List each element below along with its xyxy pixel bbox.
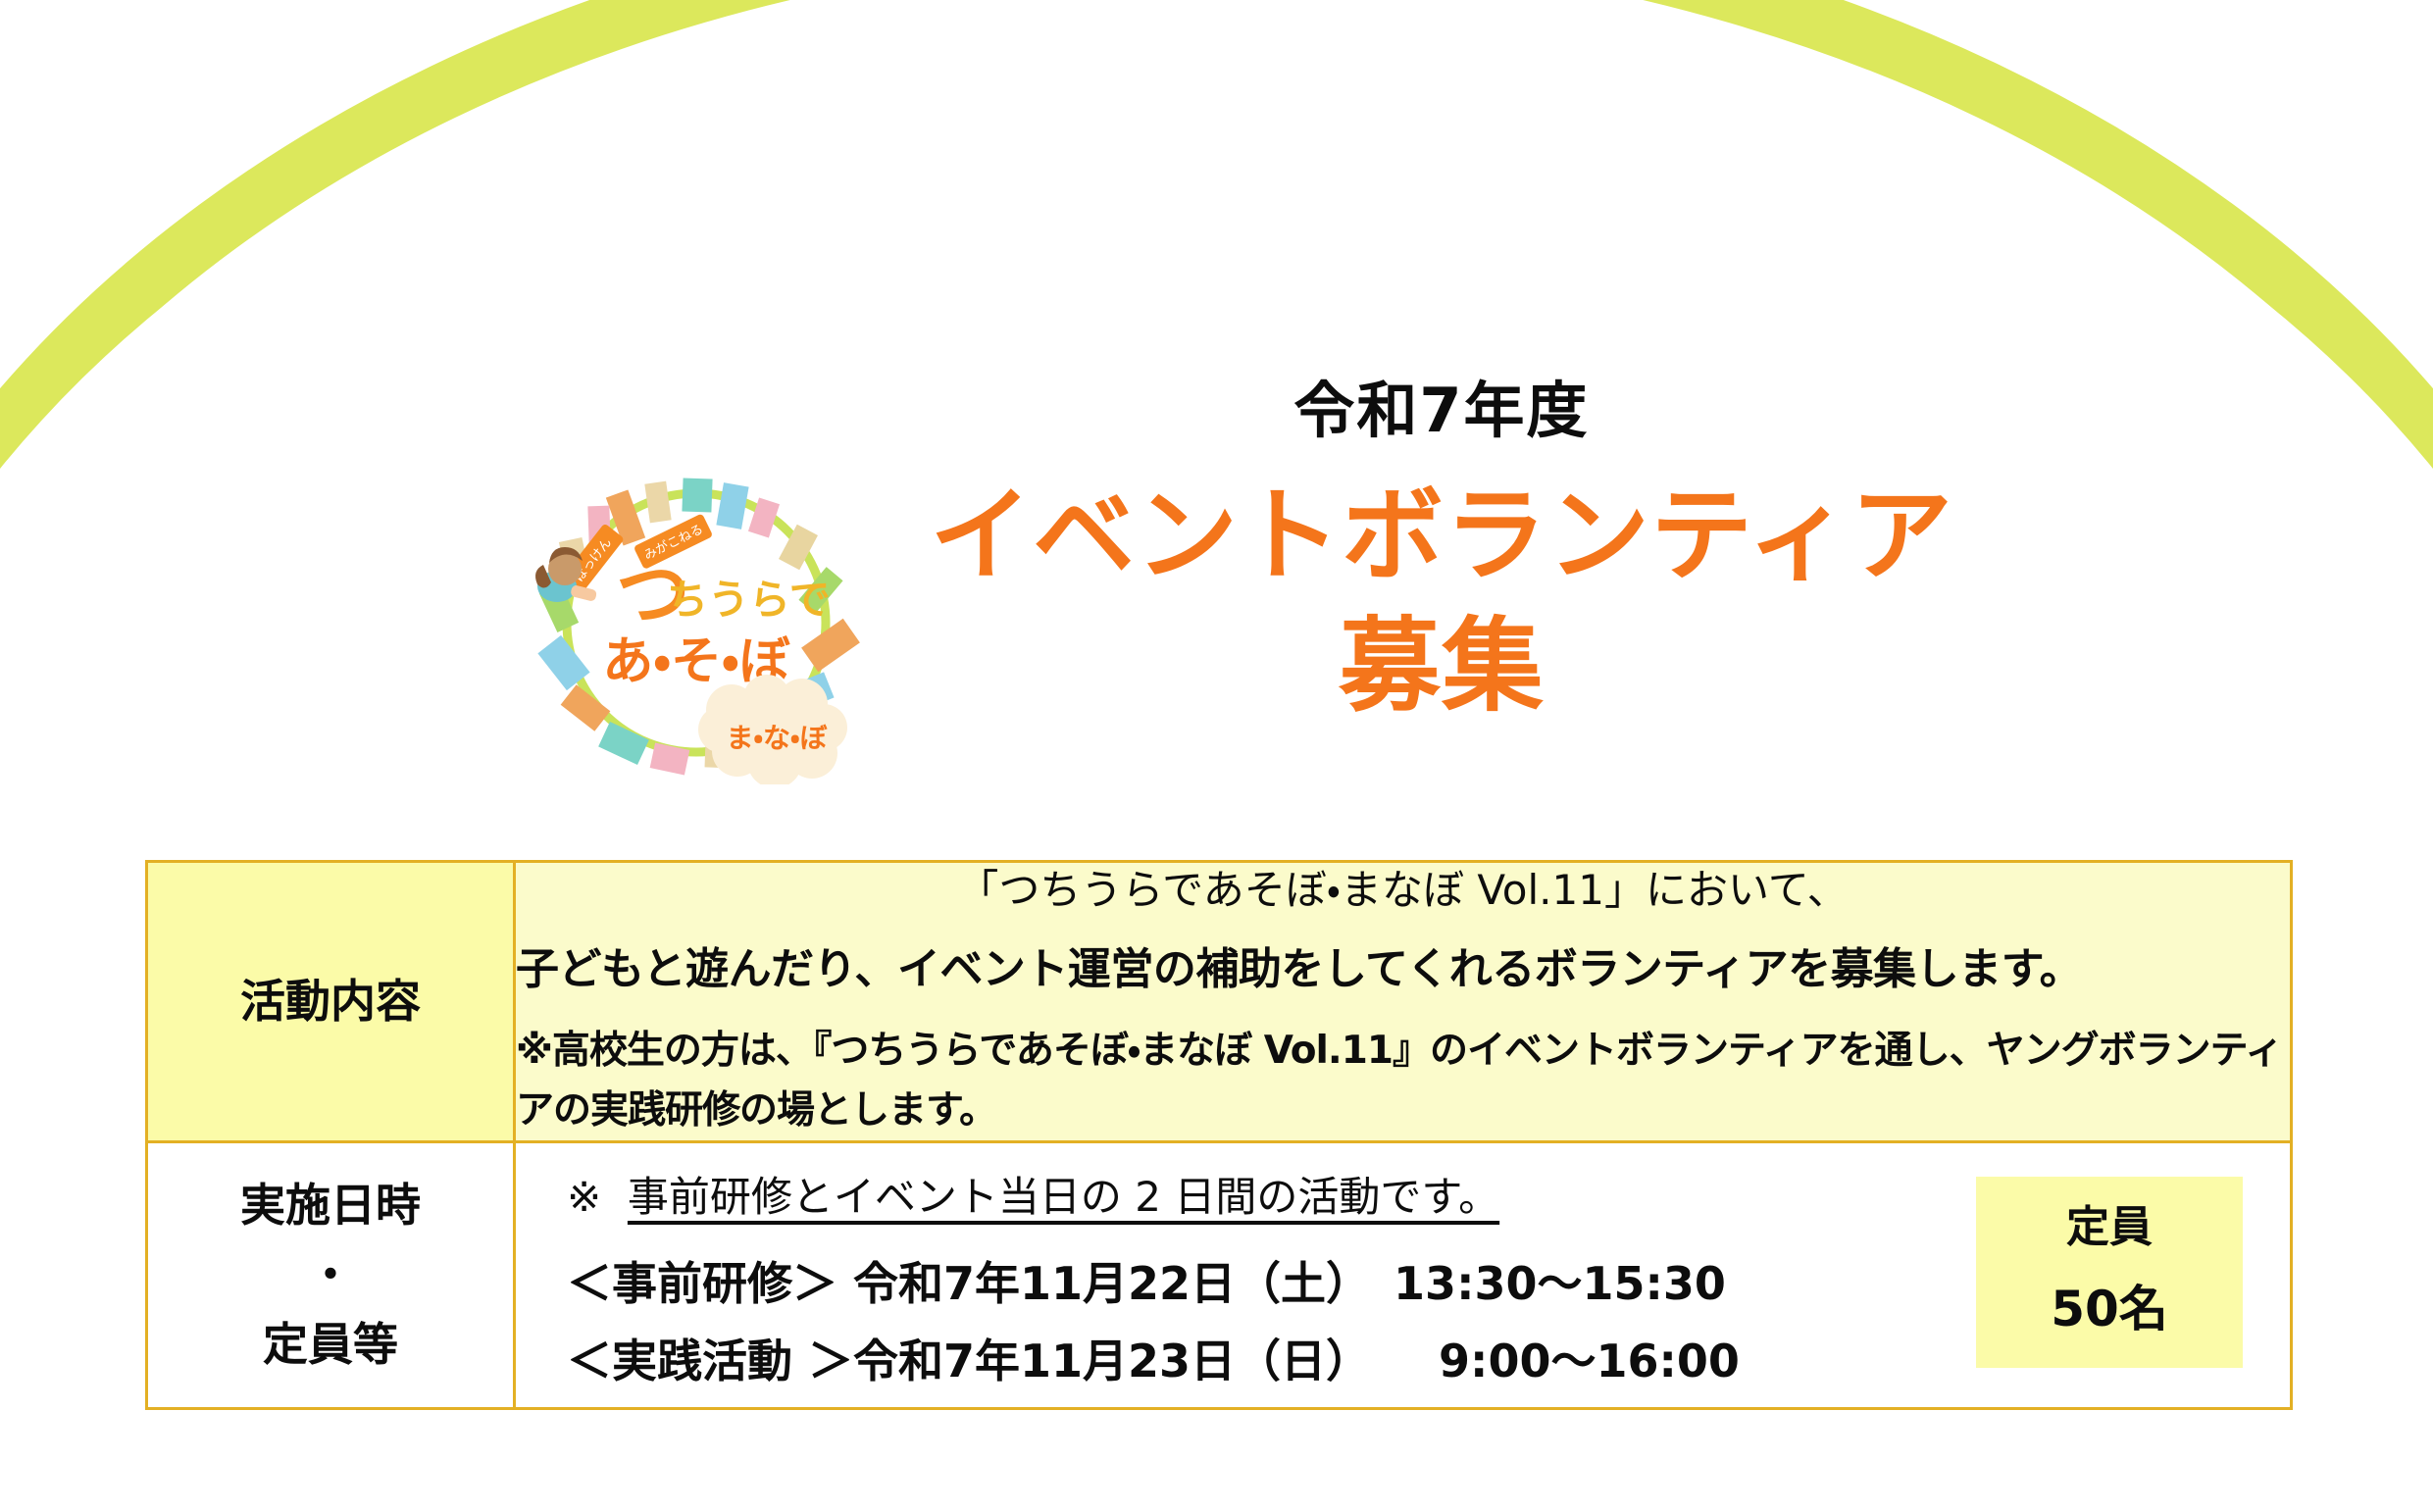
schedule-row-training: ＜事前研修＞ 令和7年11月22日（土） 13:30～15:30	[567, 1252, 1740, 1316]
details-table: 活動内容 「つちうらであそぼ・まなぼ Vol.11」において、 子どもと遊んだり…	[145, 860, 2293, 1410]
capacity-value: 50名	[1976, 1280, 2243, 1338]
poster-title-block: 令和7年度 イベントボランティア 募集	[922, 378, 1961, 724]
row-label-activity: 活動内容	[147, 862, 515, 1142]
table-row: 実施日時 ・ 定員等 ※ 事前研修とイベント当日の 2 日間の活動です。 ＜事前…	[147, 1141, 2292, 1408]
schedule-note: ※ 事前研修とイベント当日の 2 日間の活動です。	[567, 1169, 1740, 1227]
row-label-schedule: 実施日時 ・ 定員等	[147, 1141, 515, 1408]
schedule-note-marker: ※	[567, 1173, 601, 1221]
schedule-note-underlined: 事前研修とイベント当日の 2 日間の活動です。	[628, 1173, 1499, 1221]
logo-chiurade-text: ちうらで	[667, 576, 831, 624]
page-title-line1: イベントボランティア	[922, 478, 1961, 594]
schedule-label-line1: 実施日時	[148, 1171, 513, 1240]
table-row: 活動内容 「つちうらであそぼ・まなぼ Vol.11」において、 子どもと遊んだり…	[147, 862, 2292, 1142]
schedule-label-dot: ・	[148, 1240, 513, 1310]
schedule-row-activity: ＜実践活動 ＞令和7年11月23日（日） 9:00～16:00	[567, 1330, 1740, 1393]
schedule-text-group: ※ 事前研修とイベント当日の 2 日間の活動です。 ＜事前研修＞ 令和7年11月…	[516, 1143, 1740, 1407]
capacity-label: 定員	[1976, 1202, 2243, 1254]
activity-line-1: 「つちうらであそぼ・まなぼ Vol.11」において、	[516, 863, 2290, 919]
page-title-line2: 募集	[922, 608, 1961, 725]
tsuchiura-asobo-logo: はっけん みがこねる つ ちうらで あ・そ・ぼ	[500, 471, 892, 784]
activity-line-3: ※高校生の方は、『つちうらであそぼ・まなぼ Vol.11』のイベントボランティア…	[516, 1022, 2290, 1140]
schedule-label-line2: 定員等	[148, 1310, 513, 1380]
fiscal-year-label: 令和7年度	[922, 378, 1961, 444]
row-body-schedule: ※ 事前研修とイベント当日の 2 日間の活動です。 ＜事前研修＞ 令和7年11月…	[515, 1141, 2292, 1408]
activity-line-2: 子どもと遊んだり、イベント運営の補助をしてくれるボランティアを募集します。	[516, 940, 2290, 998]
logo-manabo-text: ま・な・ぼ	[726, 722, 828, 754]
capacity-badge: 定員 50名	[1976, 1177, 2243, 1368]
row-body-activity: 「つちうらであそぼ・まなぼ Vol.11」において、 子どもと遊んだり、イベント…	[515, 862, 2292, 1142]
